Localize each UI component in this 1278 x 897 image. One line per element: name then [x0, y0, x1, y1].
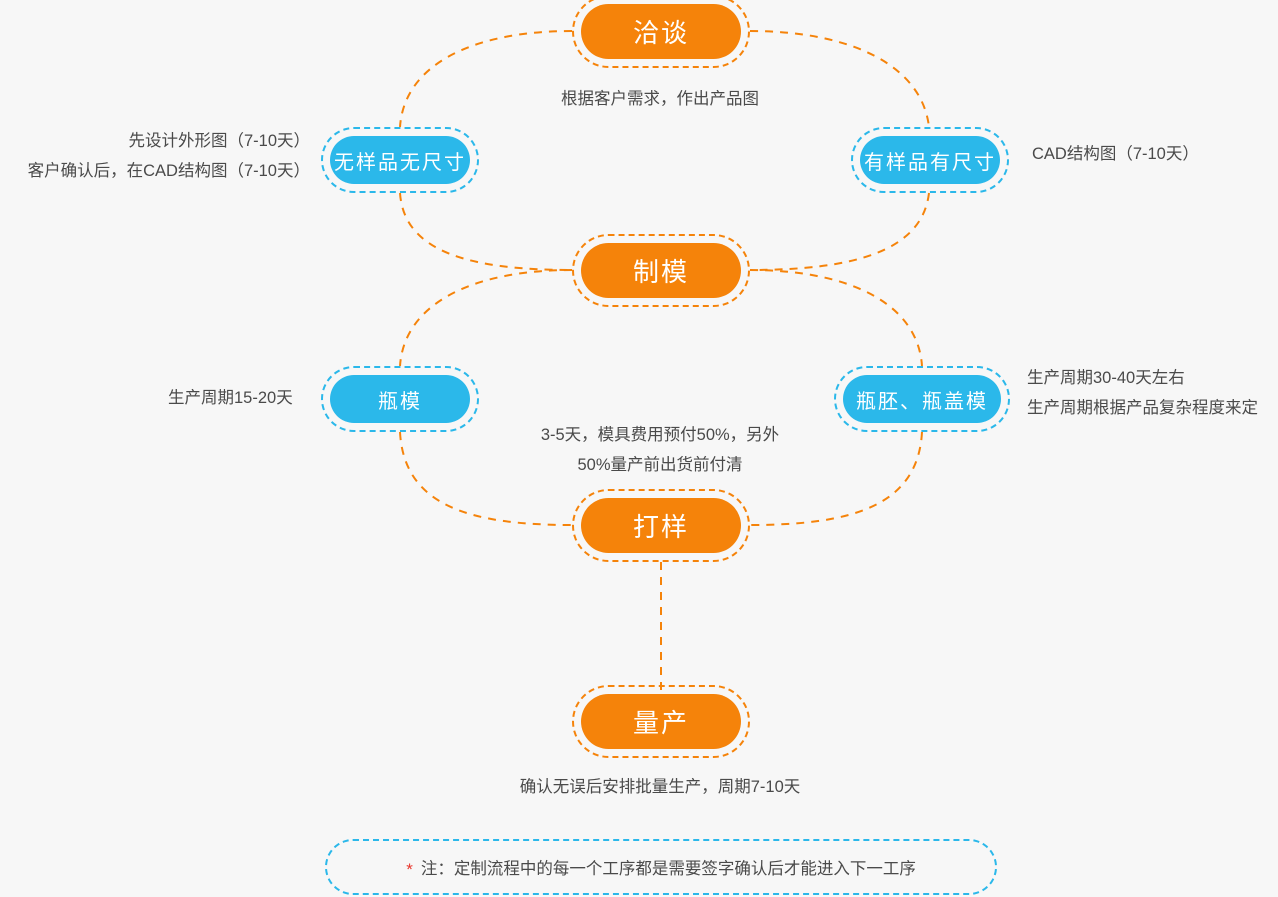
node-liangchan-halo [572, 685, 750, 758]
edge-zhimo-to-pingpei [750, 270, 922, 366]
node-pingpei[interactable]: 瓶胚、瓶盖模 [843, 375, 1001, 423]
asterisk-icon: * [406, 861, 413, 878]
node-qiatan-halo [572, 0, 750, 68]
annotation-right-top: CAD结构图（7-10天） [1032, 139, 1199, 169]
annotation-right-mid-line2: 生产周期根据产品复杂程度来定 [1027, 393, 1258, 423]
annotation-left-top: 先设计外形图（7-10天） 客户确认后，在CAD结构图（7-10天） [0, 126, 310, 186]
node-pingpei-halo [834, 366, 1010, 432]
diagram-canvas: 洽谈 制模 打样 量产 无样品无尺寸 有样品有尺寸 瓶模 瓶胚、瓶盖模 先设计外… [0, 0, 1278, 897]
edge-zhimo-to-pingmo [400, 270, 572, 366]
node-zhimo-halo [572, 234, 750, 307]
node-pingmo-halo [321, 366, 479, 432]
node-pingmo[interactable]: 瓶模 [330, 375, 470, 423]
annotation-center-top: 根据客户需求，作出产品图 [520, 84, 800, 114]
edge-youyangpin-to-zhimo [750, 193, 929, 270]
node-liangchan[interactable]: 量产 [581, 694, 741, 749]
annotation-center-mid-line1: 3-5天，模具费用预付50%，另外 [500, 420, 820, 450]
node-youyangpin-halo [851, 127, 1009, 193]
node-dayang[interactable]: 打样 [581, 498, 741, 553]
annotation-left-top-line2: 客户确认后，在CAD结构图（7-10天） [0, 156, 310, 186]
node-wuyangpin-halo [321, 127, 479, 193]
annotation-left-top-line1: 先设计外形图（7-10天） [0, 126, 310, 156]
node-wuyangpin[interactable]: 无样品无尺寸 [330, 136, 470, 184]
note-box: * 注：定制流程中的每一个工序都是需要签字确认后才能进入下一工序 [325, 839, 997, 895]
annotation-right-mid-line1: 生产周期30-40天左右 [1027, 363, 1258, 393]
note-text: 注：定制流程中的每一个工序都是需要签字确认后才能进入下一工序 [421, 855, 916, 879]
edge-wuyangpin-to-zhimo [400, 193, 572, 270]
node-dayang-halo [572, 489, 750, 562]
annotation-left-mid: 生产周期15-20天 [168, 383, 293, 413]
annotation-center-mid: 3-5天，模具费用预付50%，另外 50%量产前出货前付清 [500, 420, 820, 480]
annotation-right-mid: 生产周期30-40天左右 生产周期根据产品复杂程度来定 [1027, 363, 1258, 423]
node-qiatan[interactable]: 洽谈 [581, 4, 741, 59]
annotation-bottom: 确认无误后安排批量生产，周期7-10天 [460, 772, 860, 802]
annotation-center-mid-line2: 50%量产前出货前付清 [500, 450, 820, 480]
node-youyangpin[interactable]: 有样品有尺寸 [860, 136, 1000, 184]
note-inner: * 注：定制流程中的每一个工序都是需要签字确认后才能进入下一工序 [406, 855, 916, 879]
node-zhimo[interactable]: 制模 [581, 243, 741, 298]
